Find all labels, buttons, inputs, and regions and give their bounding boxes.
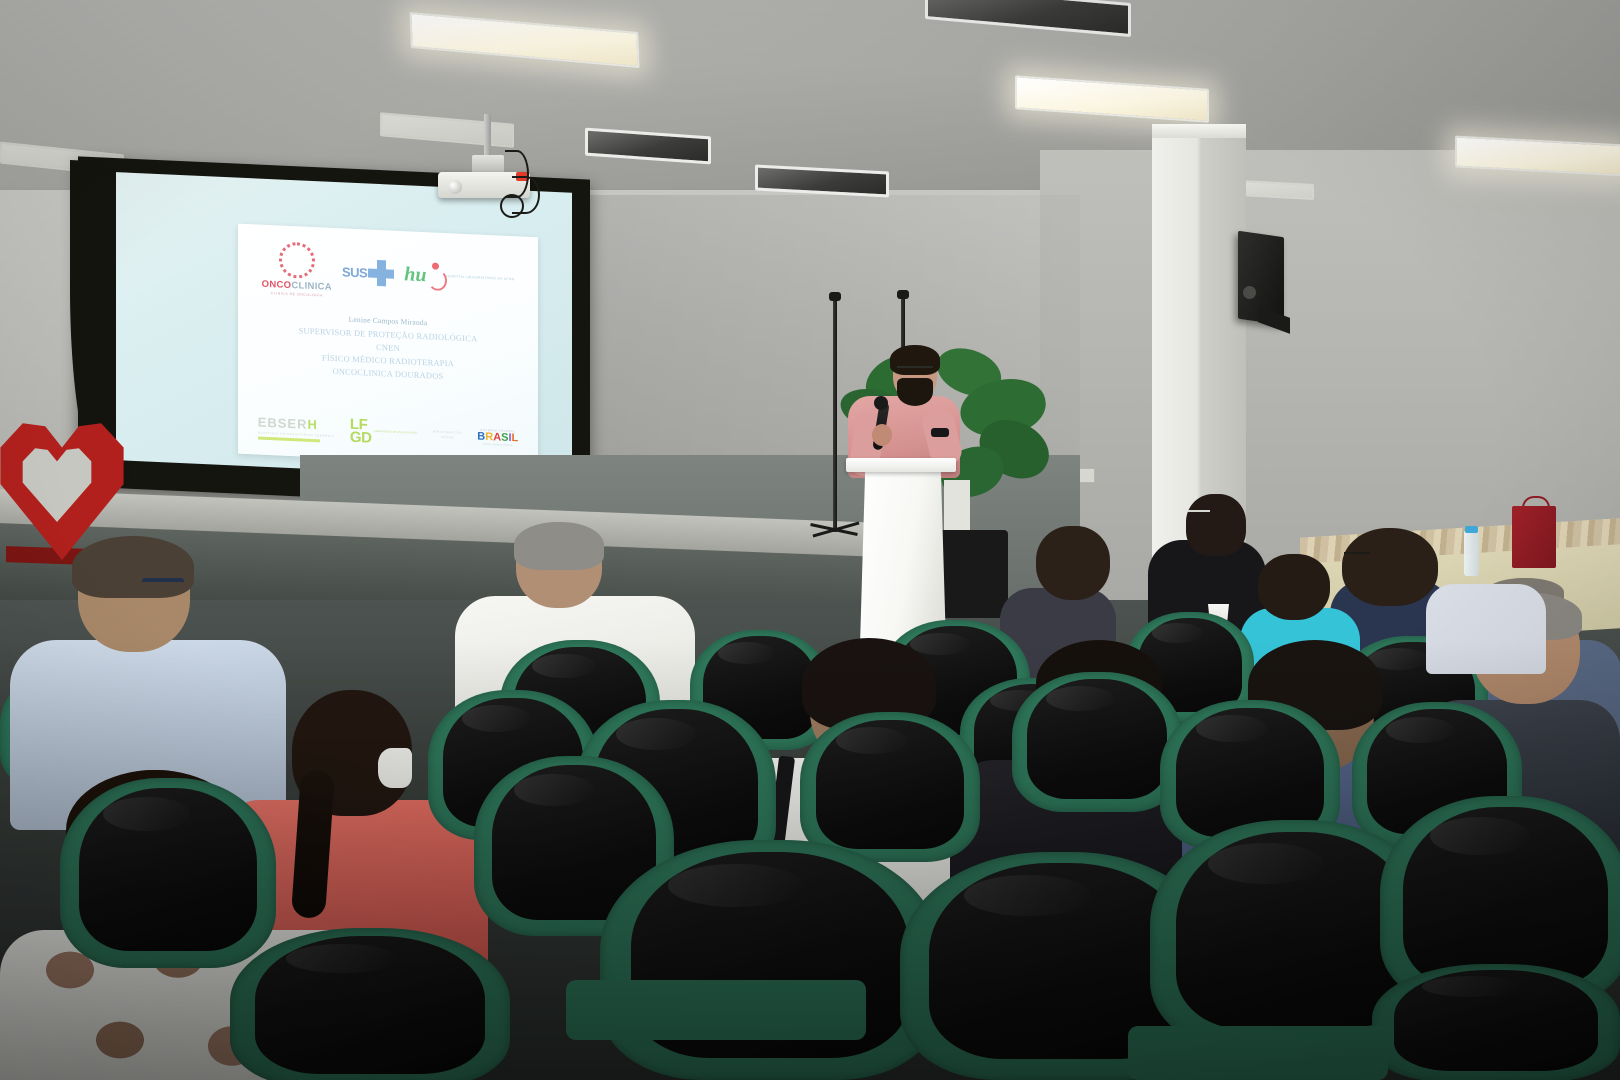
hu-ufgd-logo: hu HOSPITAL UNIVERSITARIO DA UFGD [404,261,514,292]
bottle-cap [1465,526,1478,533]
speaker-driver-icon [1243,286,1256,299]
brasil-letter: S [501,432,508,443]
sus-logo: SUS [342,258,394,286]
audience-person-head [1258,554,1330,620]
ebserh-logo: EBSERH HOSPITAIS UNIVERSITARIOS FEDERAIS [258,414,335,442]
slide-top-logos: ONCOCLINICA CLINICA DE ONCOLOGIA SUS hu … [244,236,532,311]
glasses-icon [1188,510,1210,520]
water-bottle [1464,530,1479,576]
auditorium-photo: ONCOCLINICA CLINICA DE ONCOLOGIA SUS hu … [0,0,1620,1080]
glasses-icon [142,578,184,595]
audience-person-hair [514,522,604,570]
oncoclinica-ring-icon [279,241,315,279]
audience-person-body [1426,584,1546,674]
wall-outlet [1078,468,1095,483]
lfgd-tagline: LABORATORIO DE FISICA DA UFGD [373,430,417,436]
hu-wordmark: hu [404,264,426,285]
face-mask [378,748,412,788]
microphone-capsule-icon [874,396,888,410]
sus-wordmark: SUS [342,264,367,280]
hu-figure-icon [428,262,444,289]
screen-surface: ONCOCLINICA CLINICA DE ONCOLOGIA SUS hu … [116,172,572,481]
auditorium-chair[interactable] [1372,964,1620,1080]
brasil-letter: L [512,433,519,444]
chair-seat[interactable] [1128,1026,1388,1080]
wristwatch [931,428,949,437]
brasil-wordmark: BRASIL [477,431,518,444]
presenter-hand [872,424,892,446]
projector-lens-icon [448,180,462,194]
audience-person-head [1186,494,1246,556]
brasil-governo-federal-logo: GOVERNO FEDERAL BRASIL PATRIA AMADA BRAS… [477,428,518,447]
ebserh-wordmark: EBSERH [258,414,318,432]
ministerio-saude-logo: MINISTERIO DA SAÚDE [433,430,462,441]
stage-chair [938,530,1008,618]
oncoclinica-logo: ONCOCLINICA CLINICA DE ONCOLOGIA [262,241,332,298]
brasil-letter: A [493,432,501,443]
audience-person-head [1036,526,1110,600]
brasil-letter: B [477,431,485,442]
lf-gd-logo: LF GD LABORATORIO DE FISICA DA UFGD [350,418,418,447]
auditorium-chair[interactable] [1012,672,1182,812]
cross-icon [368,260,394,287]
presenter-glasses-icon [897,366,933,376]
lfgd-line2: GD [350,431,372,445]
chair-seat[interactable] [566,980,866,1040]
slide-bottom-logos: EBSERH HOSPITAIS UNIVERSITARIOS FEDERAIS… [244,406,532,459]
podium-top [846,458,956,472]
audience-person-head [1342,528,1438,606]
microphone-stand [833,296,837,532]
projector-cable [500,194,524,218]
podium [860,470,946,645]
microphone-stand-clip [829,292,841,301]
ebserh-word: EBSER [258,414,308,431]
slide-text-block: Lenine Campos Miranda SUPERVISOR DE PROT… [244,310,532,387]
presenter-beard [897,378,933,406]
glasses-icon [1344,552,1370,563]
oncoclinica-word-part1: ONCO [262,279,292,291]
red-gift-bag [1512,506,1556,568]
ebserh-accent-letter: H [308,416,318,431]
projected-slide: ONCOCLINICA CLINICA DE ONCOLOGIA SUS hu … [238,224,538,468]
ebserh-bar [258,436,320,442]
brasil-subtitle: PATRIA AMADA BRASIL [482,443,513,446]
column-cap [1152,124,1246,138]
hu-subtitle: HOSPITAL UNIVERSITARIO DA UFGD [446,274,514,282]
microphone-stand-clip [897,290,909,299]
brasil-letter: R [485,431,493,442]
projector-mount-pole [484,114,491,158]
auditorium-chair[interactable] [230,928,510,1080]
oncoclinica-word-part2: CLINICA [291,280,332,293]
auditorium-chair[interactable] [600,840,940,1080]
